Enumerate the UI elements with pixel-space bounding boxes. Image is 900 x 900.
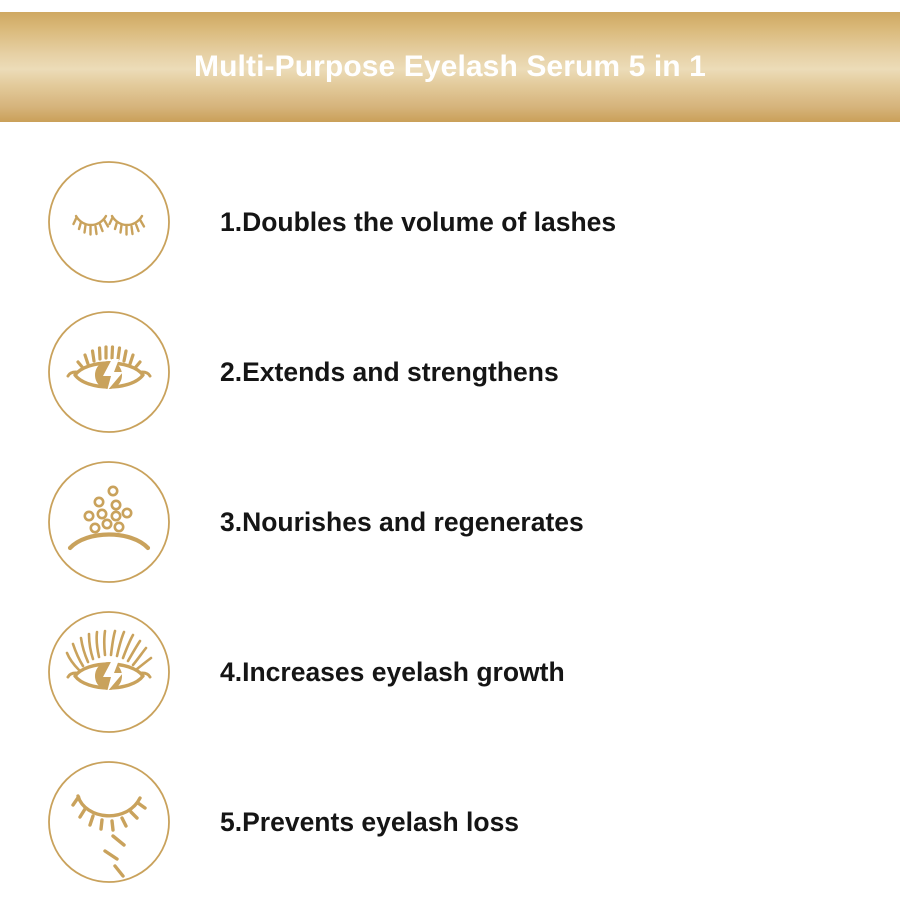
list-item: 5.Prevents eyelash loss [0, 747, 900, 897]
closed-eyes-lashes-icon [45, 158, 173, 286]
nutrient-droplets-over-lid-icon [45, 458, 173, 586]
header-banner: Multi-Purpose Eyelash Serum 5 in 1 [0, 12, 900, 122]
list-item: 1.Doubles the volume of lashes [0, 147, 900, 297]
list-item-label: 5.Prevents eyelash loss [220, 807, 519, 837]
open-eye-straight-lashes-icon [45, 308, 173, 436]
list-item: 4.Increases eyelash growth [0, 597, 900, 747]
feature-list: 1.Doubles the volume of lashes [0, 122, 900, 900]
list-item-label: 2.Extends and strengthens [220, 357, 559, 387]
list-item-label: 3.Nourishes and regenerates [220, 507, 584, 537]
product-feature-infographic: Multi-Purpose Eyelash Serum 5 in 1 [0, 0, 900, 900]
list-item: 2.Extends and strengthens [0, 297, 900, 447]
open-eye-long-curved-lashes-icon [45, 608, 173, 736]
list-item-label: 4.Increases eyelash growth [220, 657, 565, 687]
closed-eye-falling-lashes-icon [45, 758, 173, 886]
list-item: 3.Nourishes and regenerates [0, 447, 900, 597]
list-item-label: 1.Doubles the volume of lashes [220, 207, 616, 237]
page-title: Multi-Purpose Eyelash Serum 5 in 1 [194, 52, 706, 82]
